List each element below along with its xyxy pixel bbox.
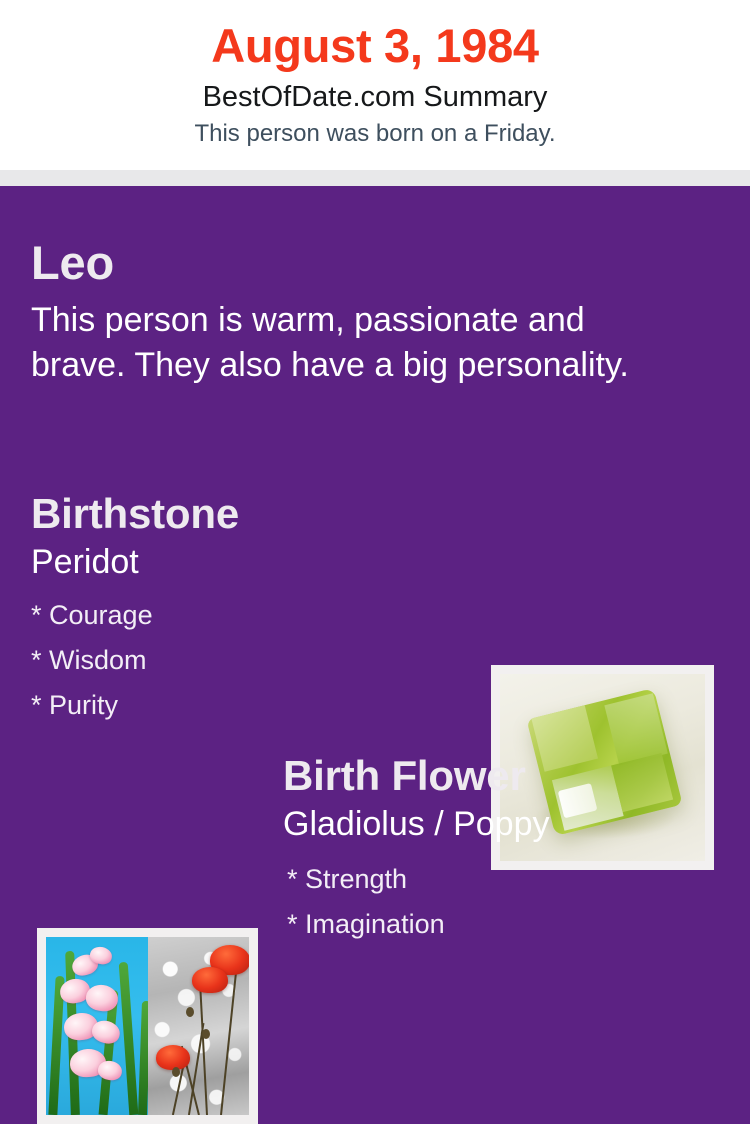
zodiac-section: Leo This person is warm, passionate and … bbox=[31, 236, 691, 388]
list-item: * Courage bbox=[31, 593, 471, 638]
poppy-flower-icon bbox=[156, 1045, 190, 1070]
page-header: August 3, 1984 BestOfDate.com Summary Th… bbox=[0, 0, 750, 170]
leaf-blade bbox=[119, 962, 139, 1115]
list-item: * Strength bbox=[287, 857, 723, 902]
poppy-bud bbox=[172, 1067, 180, 1077]
leaf-blade bbox=[138, 1001, 147, 1115]
gladiolus-poppy-photo bbox=[46, 937, 249, 1115]
birthstone-section: Birthstone Peridot * Courage * Wisdom * … bbox=[31, 489, 471, 728]
poppy-bud bbox=[202, 1029, 210, 1039]
poppy-stem bbox=[199, 987, 208, 1115]
poppy-photo-half bbox=[148, 937, 250, 1115]
birth-flower-trait-list: * Strength * Imagination bbox=[283, 857, 723, 947]
poppy-bud bbox=[186, 1007, 194, 1017]
birth-flower-section: Birth Flower Gladiolus / Poppy * Strengt… bbox=[283, 751, 723, 947]
summary-panel: Leo This person is warm, passionate and … bbox=[0, 186, 750, 1000]
birth-day-note: This person was born on a Friday. bbox=[0, 118, 750, 150]
birthstone-name: Peridot bbox=[31, 541, 471, 583]
zodiac-description: This person is warm, passionate and brav… bbox=[31, 298, 681, 388]
birth-flower-name: Gladiolus / Poppy bbox=[283, 803, 723, 845]
header-divider bbox=[0, 170, 750, 186]
site-subtitle: BestOfDate.com Summary bbox=[0, 78, 750, 116]
page-title: August 3, 1984 bbox=[0, 18, 750, 74]
birth-flower-image bbox=[37, 928, 258, 1124]
list-item: * Wisdom bbox=[31, 638, 471, 683]
birthstone-trait-list: * Courage * Wisdom * Purity bbox=[31, 593, 471, 728]
gladiolus-photo-half bbox=[46, 937, 148, 1115]
list-item: * Purity bbox=[31, 683, 471, 728]
birth-flower-heading: Birth Flower bbox=[283, 751, 723, 801]
zodiac-sign-name: Leo bbox=[31, 236, 691, 290]
gladiolus-petal bbox=[97, 1059, 124, 1082]
birthstone-heading: Birthstone bbox=[31, 489, 471, 539]
list-item: * Imagination bbox=[287, 902, 723, 947]
poppy-flower-icon bbox=[192, 967, 228, 993]
